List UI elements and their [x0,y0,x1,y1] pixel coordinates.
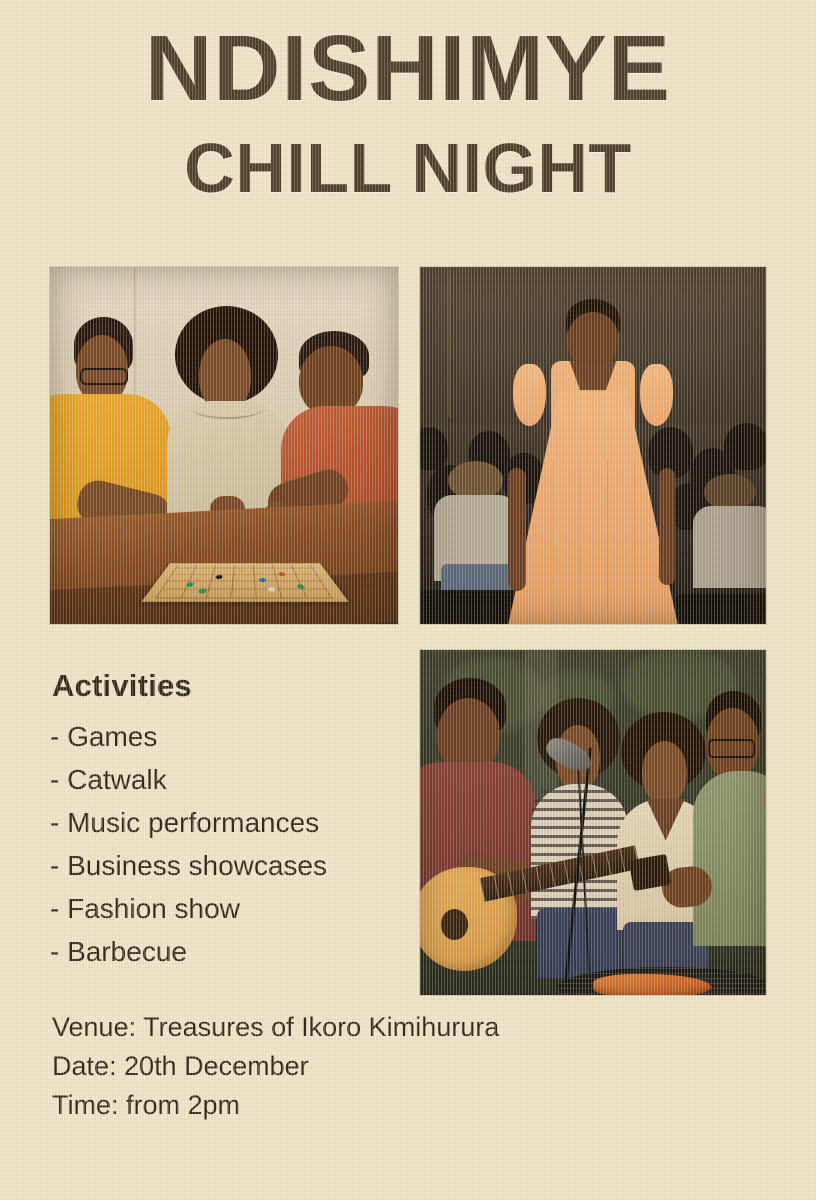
guitar-headstock [629,854,672,891]
activities-list: - Games - Catwalk - Music performances -… [50,715,327,973]
board-game [141,563,348,601]
eyeglasses-icon [80,368,128,385]
time-line: Time: from 2pm [52,1086,499,1125]
list-item: - Business showcases [50,844,327,887]
date-line: Date: 20th December [52,1047,499,1086]
list-item: - Games [50,715,327,758]
photo-board-game-friends [50,267,398,624]
activities-heading: Activities [52,668,192,704]
grilled-food [593,974,711,995]
person-olive-shirt [697,691,766,974]
list-item: - Catwalk [50,758,327,801]
photo-music-barbecue [420,650,766,995]
list-item: - Barbecue [50,930,327,973]
page-title: NDISHIMYE [0,22,816,115]
runway-model [534,299,652,624]
list-item: - Fashion show [50,887,327,930]
list-item: - Music performances [50,801,327,844]
eyeglasses-icon [708,739,755,757]
page-subtitle: CHILL NIGHT [0,133,816,203]
photo-catwalk-model [420,267,766,624]
poster-title-block: NDISHIMYE CHILL NIGHT [0,22,816,203]
event-details: Venue: Treasures of Ikoro Kimihurura Dat… [52,1008,499,1125]
venue-line: Venue: Treasures of Ikoro Kimihurura [52,1008,499,1047]
